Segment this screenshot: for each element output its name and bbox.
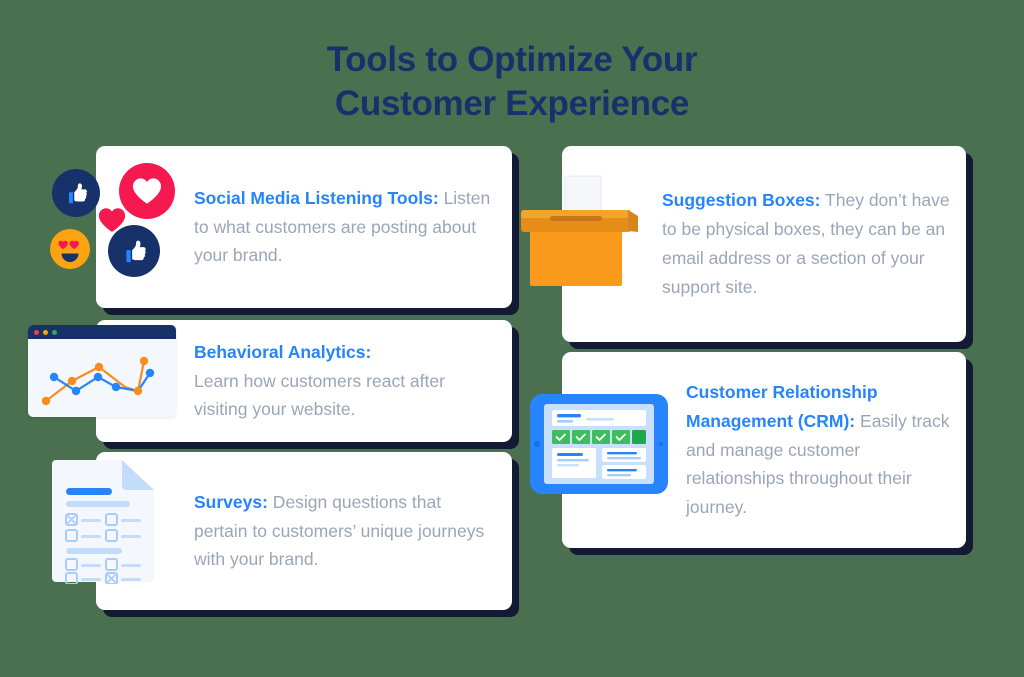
card-surveys[interactable]: Surveys: Design questions that pertain t… [96, 452, 512, 610]
card-crm-text: Customer Relationship Management (CRM): … [686, 378, 952, 522]
social-reactions-icon [46, 163, 176, 285]
card-suggestion-heading: Suggestion Boxes: [662, 190, 821, 210]
window-maximize-dot-icon [52, 330, 57, 335]
title-line-1: Tools to Optimize Your [0, 38, 1024, 82]
card-surveys-heading: Surveys: [194, 492, 268, 512]
card-behavioral-heading: Behavioral Analytics: [194, 342, 371, 362]
page-title: Tools to Optimize Your Customer Experien… [0, 38, 1024, 126]
card-crm-heading: Customer Relationship Management (CRM): [686, 382, 878, 431]
heart-crimson-circle-icon [119, 163, 175, 219]
card-surveys-text: Surveys: Design questions that pertain t… [194, 488, 496, 575]
browser-title-bar [28, 325, 176, 339]
heart-eyes-emoji-icon [50, 229, 90, 269]
thumbs-up-navy-circle-icon-2 [108, 225, 160, 277]
window-minimize-dot-icon [43, 330, 48, 335]
card-social-text: Social Media Listening Tools: Listen to … [194, 184, 496, 271]
browser-window [28, 325, 176, 417]
survey-document-icon [48, 458, 158, 584]
title-line-2: Customer Experience [0, 82, 1024, 126]
window-close-dot-icon [34, 330, 39, 335]
suggestion-box-icon [518, 174, 646, 290]
card-behavioral-body: Learn how customers react after visiting… [194, 371, 445, 420]
infographic-canvas: Tools to Optimize Your Customer Experien… [0, 0, 1024, 677]
card-suggestion-text: Suggestion Boxes: They don’t have to be … [662, 186, 952, 302]
analytics-chart-icon [28, 325, 176, 417]
chart-area [28, 339, 176, 417]
card-behavioral-text: Behavioral Analytics: Learn how customer… [194, 338, 496, 425]
crm-tablet-icon [528, 392, 670, 496]
thumbs-up-navy-circle-icon [52, 169, 100, 217]
card-social-heading: Social Media Listening Tools: [194, 188, 439, 208]
